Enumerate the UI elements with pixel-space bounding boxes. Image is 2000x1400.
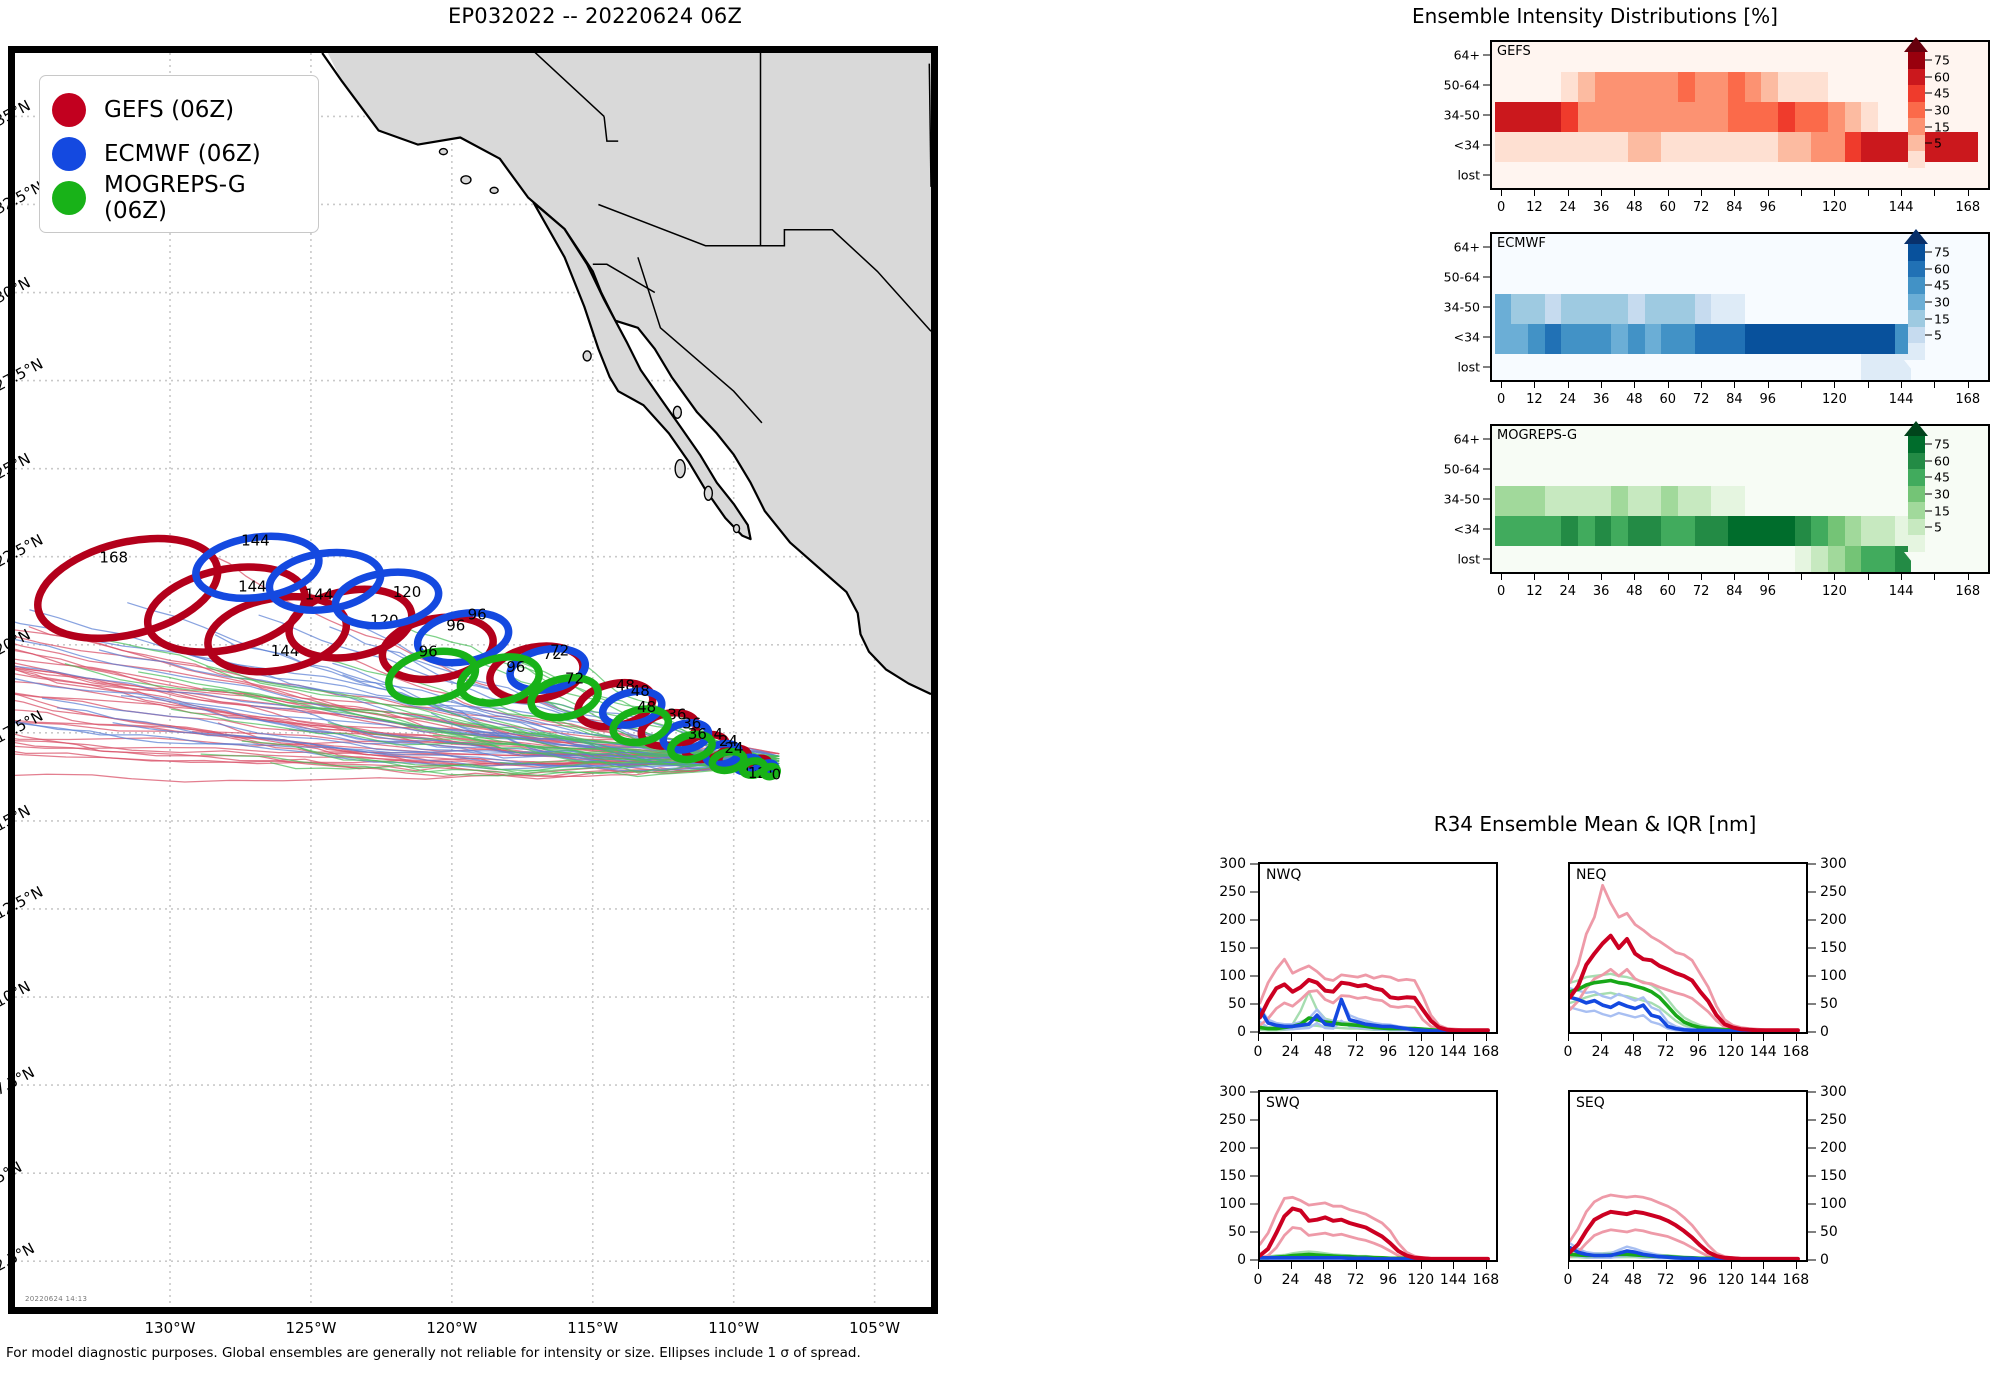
intensity-y-label: <34 [1390, 522, 1480, 537]
heatmap-cell [1645, 486, 1662, 516]
colorbar-segment [1908, 244, 1925, 261]
heatmap-cell [1528, 516, 1545, 546]
r34-plot-area[interactable]: NWQ [1258, 862, 1498, 1034]
intensity-x-tick [1834, 382, 1835, 388]
intensity-x-label: 84 [1726, 200, 1743, 215]
ecmwf-color-swatch-icon [52, 137, 86, 171]
heatmap-cell [1561, 132, 1578, 162]
r34-x-tick [1568, 1034, 1569, 1041]
map-island [461, 176, 471, 184]
r34-x-tick [1666, 1262, 1667, 1269]
heatmap-cell [1611, 294, 1628, 324]
heatmap-cell [1728, 132, 1745, 162]
r34-x-tick [1291, 1034, 1292, 1041]
intensity-y-tick [1483, 145, 1490, 146]
r34-series-graphics [1570, 864, 1806, 1032]
intensity-x-tick [1734, 190, 1735, 196]
r34-y-label: 300 [1820, 1084, 1847, 1100]
r34-x-label: 72 [1347, 1044, 1365, 1060]
r34-x-tick [1601, 1262, 1602, 1269]
colorbar-segment [1908, 310, 1925, 327]
intensity-x-tick [1534, 190, 1535, 196]
intensity-y-tick [1483, 55, 1490, 56]
intensity-y-label: lost [1390, 360, 1480, 375]
r34-y-label: 50 [1820, 1224, 1838, 1240]
colorbar-tick-label: 30 [1934, 103, 1950, 118]
colorbar-tick-label: 15 [1934, 119, 1950, 134]
r34-quadrant-tag: NEQ [1576, 867, 1606, 883]
r34-y-label: 150 [1196, 1168, 1246, 1184]
intensity-x-label: 60 [1659, 392, 1676, 407]
map-plot-frame[interactable]: 1681441441209672483624120144144120967248… [8, 46, 938, 1314]
r34-x-label: 96 [1379, 1044, 1397, 1060]
heatmap-cell [1528, 102, 1545, 132]
intensity-x-tick [1634, 190, 1635, 196]
heatmap-cell [1611, 102, 1628, 132]
heatmap-cell [1628, 486, 1645, 516]
r34-y-tick [1808, 1148, 1816, 1149]
colorbar-segment [1908, 535, 1925, 552]
heatmap-cell [1728, 294, 1745, 324]
intensity-colorbar: 75604530155 [1908, 436, 1925, 552]
heatmap-cell [1545, 516, 1562, 546]
heatmap-cell [1528, 132, 1545, 162]
map-title: EP032022 -- 20220624 06Z [0, 4, 1190, 28]
colorbar-tick [1925, 444, 1932, 445]
intensity-x-tick [1668, 574, 1669, 580]
r34-x-tick [1731, 1034, 1732, 1041]
r34-x-label: 48 [1314, 1272, 1332, 1288]
heatmap-cell [1611, 324, 1628, 354]
heatmap-cell [1495, 132, 1512, 162]
r34-y-tick [1808, 1120, 1816, 1121]
heatmap-cell [1611, 486, 1628, 516]
heatmap-cell [1661, 324, 1678, 354]
heatmap-cell [1511, 486, 1528, 516]
r34-plot-area[interactable]: NEQ [1568, 862, 1808, 1034]
heatmap-cell [1745, 516, 1762, 546]
intensity-x-tick [1768, 574, 1769, 580]
r34-x-tick [1453, 1262, 1454, 1269]
heatmap-cell [1645, 132, 1662, 162]
colorbar-tick [1925, 268, 1932, 269]
colorbar-tick-label: 60 [1934, 453, 1950, 468]
r34-x-label: 48 [1624, 1272, 1642, 1288]
map-lon-tick-label: 105°W [849, 1319, 900, 1337]
heatmap-cell [1661, 294, 1678, 324]
r34-y-tick [1808, 1004, 1816, 1005]
intensity-x-tick [1934, 574, 1935, 580]
colorbar-tick-label: 5 [1934, 520, 1942, 535]
colorbar-segment [1908, 519, 1925, 536]
legend-item-gefs[interactable]: GEFS (06Z) [52, 88, 304, 132]
heatmap-cell [1578, 516, 1595, 546]
heatmap-cell [1561, 516, 1578, 546]
r34-x-label: 0 [1564, 1272, 1573, 1288]
map-island [439, 149, 447, 155]
heatmap-cell [1628, 324, 1645, 354]
heatmap-cell [1845, 132, 1862, 162]
heatmap-cell [1661, 102, 1678, 132]
intensity-x-tick [1534, 382, 1535, 388]
heatmap-cell [1811, 72, 1828, 102]
heatmap-cell [1711, 294, 1728, 324]
heatmap-cell [1611, 72, 1628, 102]
heatmap-cell [1945, 132, 1962, 162]
colorbar-tick-label: 5 [1934, 136, 1942, 151]
r34-y-tick [1250, 1092, 1258, 1093]
intensity-x-label: 0 [1497, 392, 1505, 407]
intensity-x-label: 168 [1955, 392, 1980, 407]
heatmap-cell [1545, 486, 1562, 516]
r34-y-label: 300 [1820, 856, 1847, 872]
intensity-panel-mogreps-g: MOGREPS-G64+50-6434-50<34lost01224364860… [1190, 424, 2000, 614]
intensity-x-tick [1601, 574, 1602, 580]
heatmap-cell [1795, 102, 1812, 132]
r34-x-tick [1796, 1262, 1797, 1269]
intensity-x-tick [1734, 382, 1735, 388]
r34-y-label: 300 [1196, 856, 1246, 872]
map-graphics: 1681441441209672483624120144144120967248… [15, 53, 931, 1307]
intensity-y-tick [1483, 469, 1490, 470]
r34-y-tick [1250, 892, 1258, 893]
intensity-y-tick [1483, 529, 1490, 530]
heatmap-cell [1795, 324, 1812, 354]
colorbar-tick [1925, 494, 1932, 495]
r34-series-line [1570, 1195, 1798, 1258]
r34-y-label: 50 [1196, 996, 1246, 1012]
r34-series-graphics [1260, 864, 1496, 1032]
r34-y-tick [1250, 1204, 1258, 1205]
r34-x-label: 0 [1564, 1044, 1573, 1060]
r34-x-tick [1258, 1262, 1259, 1269]
r34-y-label: 0 [1820, 1252, 1829, 1268]
r34-y-tick [1808, 1204, 1816, 1205]
legend-item-ecmwf[interactable]: ECMWF (06Z) [52, 132, 304, 176]
colorbar-segment [1908, 277, 1925, 294]
intensity-x-label: 96 [1759, 584, 1776, 599]
intensity-x-tick [1501, 574, 1502, 580]
heatmap-cell [1728, 486, 1745, 516]
heatmap-cell [1578, 132, 1595, 162]
r34-x-label: 120 [1407, 1044, 1434, 1060]
colorbar-tick [1925, 285, 1932, 286]
heatmap-cell [1628, 132, 1645, 162]
r34-y-tick [1808, 1032, 1816, 1033]
intensity-y-label: 64+ [1390, 48, 1480, 63]
colorbar-tick [1925, 460, 1932, 461]
map-island [673, 406, 681, 418]
intensity-x-tick [1568, 382, 1569, 388]
r34-x-label: 168 [1782, 1044, 1809, 1060]
heatmap-cell [1628, 294, 1645, 324]
r34-x-label: 144 [1750, 1044, 1777, 1060]
map-lon-tick-label: 110°W [708, 1319, 759, 1337]
ellipse-hour-label: 144 [241, 531, 270, 549]
intensity-x-tick [1668, 382, 1669, 388]
intensity-y-tick [1483, 115, 1490, 116]
heatmap-cell [1528, 294, 1545, 324]
heatmap-cell [1861, 102, 1878, 132]
heatmap-cell [1511, 132, 1528, 162]
r34-quadrant-tag: SWQ [1266, 1095, 1300, 1111]
colorbar-tick-label: 75 [1934, 245, 1950, 260]
r34-x-tick [1388, 1034, 1389, 1041]
r34-y-label: 250 [1196, 1112, 1246, 1128]
r34-x-tick [1291, 1262, 1292, 1269]
intensity-x-tick [1901, 382, 1902, 388]
r34-x-tick [1666, 1034, 1667, 1041]
colorbar-segment [1908, 85, 1925, 102]
colorbar-segment [1908, 261, 1925, 278]
heatmap-cell [1878, 324, 1895, 354]
colorbar-arrow-high [1904, 229, 1928, 244]
map-lon-tick-label: 125°W [285, 1319, 336, 1337]
heatmap-cell [1661, 486, 1678, 516]
colorbar-tick-label: 75 [1934, 53, 1950, 68]
intensity-x-tick [1634, 382, 1635, 388]
intensity-y-tick [1483, 367, 1490, 368]
r34-y-label: 150 [1820, 1168, 1847, 1184]
heatmap-cell [1578, 102, 1595, 132]
right-column: Ensemble Intensity Distributions [%] GEF… [1190, 0, 2000, 1400]
intensity-x-tick [1601, 190, 1602, 196]
r34-x-tick [1258, 1034, 1259, 1041]
heatmap-cell [1561, 486, 1578, 516]
r34-y-tick [1250, 1260, 1258, 1261]
intensity-x-label: 60 [1659, 200, 1676, 215]
r34-x-label: 0 [1254, 1272, 1263, 1288]
heatmap-cell [1578, 72, 1595, 102]
r34-x-tick [1323, 1034, 1324, 1041]
heatmap-cell [1595, 72, 1612, 102]
intensity-y-tick [1483, 85, 1490, 86]
r34-y-tick [1250, 864, 1258, 865]
r34-y-tick [1250, 1120, 1258, 1121]
r34-y-label: 200 [1196, 912, 1246, 928]
intensity-x-tick [1668, 190, 1669, 196]
intensity-model-tag: GEFS [1497, 44, 1531, 59]
ellipse-hour-label: 36 [688, 725, 707, 743]
heatmap-cell [1795, 516, 1812, 546]
heatmap-cell [1828, 102, 1845, 132]
r34-x-tick [1388, 1262, 1389, 1269]
r34-plot-area[interactable]: SEQ [1568, 1090, 1808, 1262]
intensity-x-label: 24 [1559, 584, 1576, 599]
intensity-x-label: 48 [1626, 200, 1643, 215]
map-island [675, 460, 685, 478]
heatmap-cell [1595, 324, 1612, 354]
colorbar-tick-label: 30 [1934, 487, 1950, 502]
r34-x-tick [1601, 1034, 1602, 1041]
heatmap-cell [1678, 294, 1695, 324]
r34-x-label: 24 [1592, 1272, 1610, 1288]
colorbar-segment [1908, 327, 1925, 344]
colorbar-segment [1908, 469, 1925, 486]
intensity-x-label: 72 [1693, 200, 1710, 215]
intensity-x-tick [1801, 382, 1802, 388]
colorbar-segment [1908, 436, 1925, 453]
r34-series-line [1570, 885, 1798, 1030]
timestamp-watermark: 20220624 14:13 [25, 1295, 87, 1303]
heatmap-cell [1861, 132, 1878, 162]
colorbar-arrow-high [1904, 421, 1928, 436]
ellipse-hour-label: 24 [725, 739, 744, 757]
r34-x-label: 144 [1750, 1272, 1777, 1288]
intensity-x-label: 12 [1526, 200, 1543, 215]
r34-panel-seq: SEQ050100150200250300024487296120144168 [1506, 1090, 1816, 1320]
intensity-y-label: <34 [1390, 330, 1480, 345]
r34-y-label: 150 [1196, 940, 1246, 956]
intensity-x-label: 144 [1889, 392, 1914, 407]
intensity-y-label: 34-50 [1390, 300, 1480, 315]
colorbar-tick [1925, 126, 1932, 127]
colorbar-tick [1925, 510, 1932, 511]
heatmap-cell [1778, 72, 1795, 102]
intensity-y-label: lost [1390, 552, 1480, 567]
r34-y-label: 100 [1820, 968, 1847, 984]
heatmap-cell [1495, 294, 1512, 324]
intensity-x-label: 24 [1559, 392, 1576, 407]
heatmap-cell [1645, 516, 1662, 546]
r34-x-label: 168 [1782, 1272, 1809, 1288]
heatmap-cell [1878, 354, 1895, 382]
r34-x-label: 144 [1440, 1272, 1467, 1288]
heatmap-cell [1728, 324, 1745, 354]
heatmap-cell [1828, 324, 1845, 354]
intensity-x-label: 84 [1726, 584, 1743, 599]
heatmap-cell [1711, 486, 1728, 516]
heatmap-cell [1545, 132, 1562, 162]
r34-panel-nwq: NWQ050100150200250300024487296120144168 [1196, 862, 1506, 1092]
intensity-y-label: 50-64 [1390, 270, 1480, 285]
r34-panel-title: R34 Ensemble Mean & IQR [nm] [1190, 812, 2000, 836]
colorbar-tick-label: 75 [1934, 437, 1950, 452]
intensity-x-tick [1768, 190, 1769, 196]
ellipse-hour-label: 168 [99, 548, 128, 566]
colorbar-arrow-high [1904, 37, 1928, 52]
intensity-panel-gefs: GEFS64+50-6434-50<34lost0122436486072849… [1190, 40, 2000, 230]
r34-y-tick [1250, 1176, 1258, 1177]
ellipse-hour-label: 144 [238, 578, 267, 596]
map-canvas[interactable]: 1681441441209672483624120144144120967248… [15, 53, 931, 1307]
heatmap-cell [1795, 132, 1812, 162]
heatmap-cell [1845, 102, 1862, 132]
colorbar-segment [1908, 151, 1925, 168]
r34-x-label: 72 [1347, 1272, 1365, 1288]
r34-y-tick [1250, 1232, 1258, 1233]
r34-y-label: 0 [1820, 1024, 1829, 1040]
r34-x-tick [1633, 1034, 1634, 1041]
r34-x-label: 96 [1689, 1044, 1707, 1060]
colorbar-tick [1925, 318, 1932, 319]
r34-x-label: 0 [1254, 1044, 1263, 1060]
r34-y-tick [1808, 1260, 1816, 1261]
heatmap-cell [1661, 72, 1678, 102]
map-island [490, 187, 498, 193]
r34-x-label: 120 [1407, 1272, 1434, 1288]
intensity-x-tick [1834, 190, 1835, 196]
heatmap-cell [1628, 516, 1645, 546]
r34-y-tick [1808, 1092, 1816, 1093]
colorbar-tick-label: 45 [1934, 470, 1950, 485]
r34-y-label: 0 [1196, 1024, 1246, 1040]
r34-plot-area[interactable]: SWQ [1258, 1090, 1498, 1262]
r34-x-tick [1763, 1034, 1764, 1041]
heatmap-cell [1828, 132, 1845, 162]
heatmap-cell [1861, 546, 1878, 574]
r34-y-tick [1250, 1004, 1258, 1005]
heatmap-cell [1761, 516, 1778, 546]
r34-panel-swq: SWQ050100150200250300024487296120144168 [1196, 1090, 1506, 1320]
intensity-x-tick [1501, 190, 1502, 196]
heatmap-cell [1811, 324, 1828, 354]
heatmap-cell [1595, 294, 1612, 324]
intensity-x-tick [1501, 382, 1502, 388]
colorbar-tick-label: 45 [1934, 278, 1950, 293]
r34-x-label: 24 [1592, 1044, 1610, 1060]
r34-x-tick [1453, 1034, 1454, 1041]
heatmap-cell [1611, 132, 1628, 162]
heatmap-cell [1678, 516, 1695, 546]
heatmap-cell [1595, 486, 1612, 516]
r34-x-label: 144 [1440, 1044, 1467, 1060]
heatmap-cell [1811, 102, 1828, 132]
ellipse-hour-label: 0 [772, 766, 782, 784]
r34-x-label: 72 [1657, 1044, 1675, 1060]
colorbar-segment [1908, 486, 1925, 503]
r34-series-line [1260, 1209, 1488, 1259]
legend-item-mogreps[interactable]: MOGREPS-G (06Z) [52, 176, 304, 220]
heatmap-cell [1528, 324, 1545, 354]
model-legend[interactable]: GEFS (06Z) ECMWF (06Z) MOGREPS-G (06Z) [39, 75, 319, 233]
r34-y-tick [1250, 1148, 1258, 1149]
colorbar-tick [1925, 252, 1932, 253]
intensity-x-tick [1868, 574, 1869, 580]
colorbar-tick-label: 15 [1934, 503, 1950, 518]
intensity-x-tick [1568, 574, 1569, 580]
heatmap-cell [1811, 546, 1828, 574]
intensity-x-tick [1968, 190, 1969, 196]
intensity-colorbar: 75604530155 [1908, 244, 1925, 360]
intensity-y-label: 64+ [1390, 240, 1480, 255]
heatmap-cell [1528, 486, 1545, 516]
colorbar-tick [1925, 76, 1932, 77]
heatmap-cell [1511, 324, 1528, 354]
heatmap-cell [1678, 324, 1695, 354]
intensity-panel-title: Ensemble Intensity Distributions [%] [1190, 4, 2000, 28]
heatmap-cell [1595, 516, 1612, 546]
r34-x-label: 168 [1472, 1044, 1499, 1060]
ellipse-hour-label: 72 [565, 670, 584, 688]
r34-y-label: 250 [1820, 884, 1847, 900]
heatmap-cell [1828, 546, 1845, 574]
intensity-x-tick [1934, 382, 1935, 388]
r34-x-tick [1421, 1262, 1422, 1269]
intensity-y-label: lost [1390, 168, 1480, 183]
r34-y-tick [1808, 948, 1816, 949]
colorbar-tick [1925, 335, 1932, 336]
heatmap-cell [1861, 516, 1878, 546]
heatmap-cell [1861, 324, 1878, 354]
heatmap-cell [1695, 72, 1712, 102]
intensity-model-tag: MOGREPS-G [1497, 428, 1577, 443]
intensity-x-label: 48 [1626, 584, 1643, 599]
heatmap-cell [1745, 72, 1762, 102]
legend-label-mogreps: MOGREPS-G (06Z) [104, 172, 304, 224]
intensity-x-tick [1801, 574, 1802, 580]
r34-y-label: 100 [1196, 1196, 1246, 1212]
